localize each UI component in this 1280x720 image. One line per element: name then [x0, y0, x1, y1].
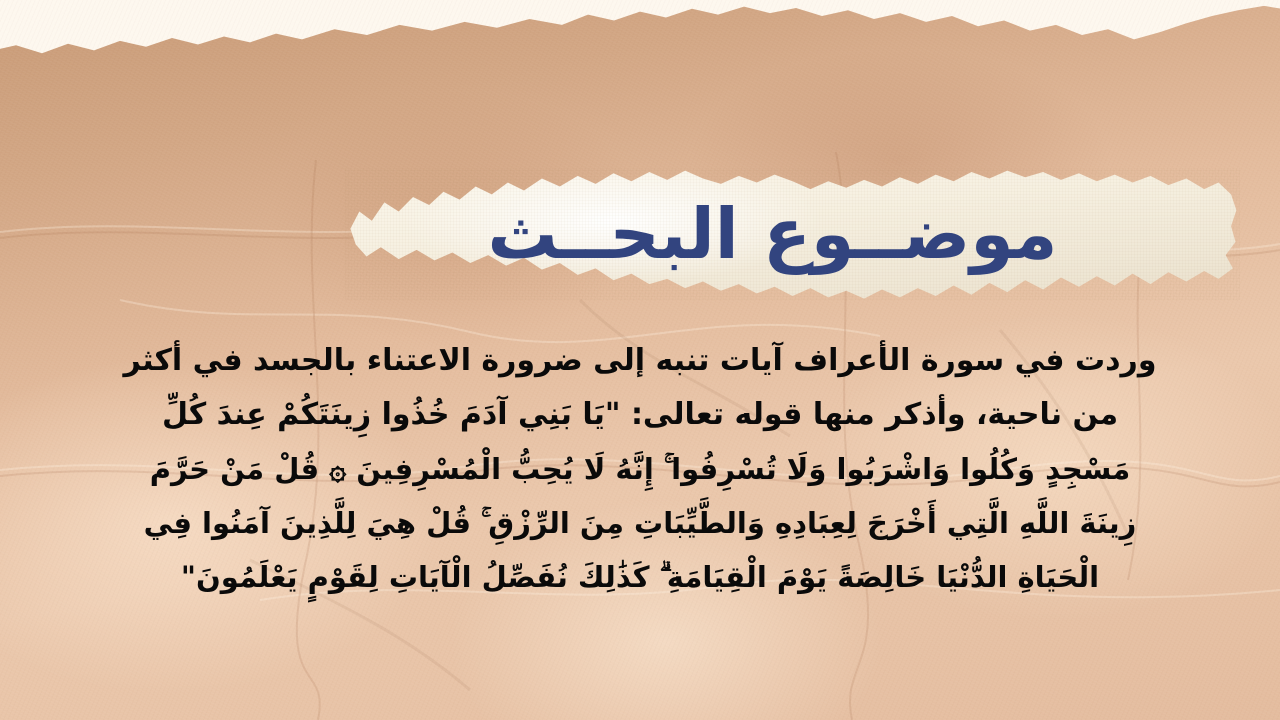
body-line-1: وردت في سورة الأعراف آيات تنبه إلى ضرورة…	[44, 334, 1236, 388]
page-title: موضــوع البحــث	[345, 182, 1240, 286]
body-line-4: زِينَةَ اللَّهِ الَّتِي أَخْرَجَ لِعِبَا…	[44, 496, 1236, 550]
slide-canvas: موضــوع البحــث وردت في سورة الأعراف آيا…	[0, 0, 1280, 720]
body-line-2: من ناحية، وأذكر منها قوله تعالى: "يَا بَ…	[44, 388, 1236, 442]
body-line-5: الْحَيَاةِ الدُّنْيَا خَالِصَةً يَوْمَ ا…	[44, 550, 1236, 604]
body-paragraph: وردت في سورة الأعراف آيات تنبه إلى ضرورة…	[44, 334, 1236, 604]
body-line-3: مَسْجِدٍ وَكُلُوا وَاشْرَبُوا وَلَا تُسْ…	[44, 442, 1236, 496]
title-torn-paper-strip: موضــوع البحــث	[345, 168, 1240, 300]
